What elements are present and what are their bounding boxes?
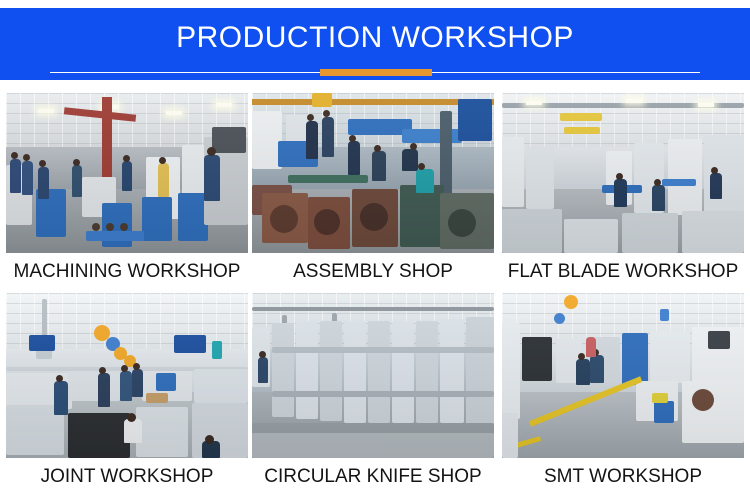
photo-scene <box>6 93 248 253</box>
gallery-item-assembly-shop[interactable]: ASSEMBLY SHOP <box>252 93 494 293</box>
photo-scene <box>6 293 248 458</box>
workshop-photo-machining-workshop[interactable] <box>6 93 248 253</box>
photo-scene <box>502 93 744 253</box>
banner-accent-bar <box>320 69 432 76</box>
photo-scene <box>252 293 494 458</box>
page-banner: PRODUCTION WORKSHOP <box>0 8 750 80</box>
gallery-item-flat-blade-workshop[interactable]: FLAT BLADE WORKSHOP <box>502 93 744 293</box>
photo-scene <box>502 293 744 458</box>
gallery-item-joint-workshop[interactable]: JOINT WORKSHOP <box>6 293 248 494</box>
workshop-caption: FLAT BLADE WORKSHOP <box>502 260 744 284</box>
workshop-caption: JOINT WORKSHOP <box>6 465 248 489</box>
workshop-caption: MACHINING WORKSHOP <box>6 260 248 284</box>
workshop-photo-assembly-shop[interactable] <box>252 93 494 253</box>
workshop-caption: SMT WORKSHOP <box>502 465 744 489</box>
production-workshop-page: PRODUCTION WORKSHOP <box>0 0 750 494</box>
gallery-item-smt-workshop[interactable]: SMT WORKSHOP <box>502 293 744 494</box>
workshop-photo-circular-knife-shop[interactable] <box>252 293 494 458</box>
gallery-item-circular-knife-shop[interactable]: CIRCULAR KNIFE SHOP <box>252 293 494 494</box>
workshop-photo-joint-workshop[interactable] <box>6 293 248 458</box>
workshop-gallery: MACHINING WORKSHOP <box>0 88 750 494</box>
workshop-photo-flat-blade-workshop[interactable] <box>502 93 744 253</box>
page-title: PRODUCTION WORKSHOP <box>0 19 750 57</box>
gallery-item-machining-workshop[interactable]: MACHINING WORKSHOP <box>6 93 248 293</box>
workshop-caption: ASSEMBLY SHOP <box>252 260 494 284</box>
photo-scene <box>252 93 494 253</box>
workshop-caption: CIRCULAR KNIFE SHOP <box>252 465 494 489</box>
workshop-photo-smt-workshop[interactable] <box>502 293 744 458</box>
